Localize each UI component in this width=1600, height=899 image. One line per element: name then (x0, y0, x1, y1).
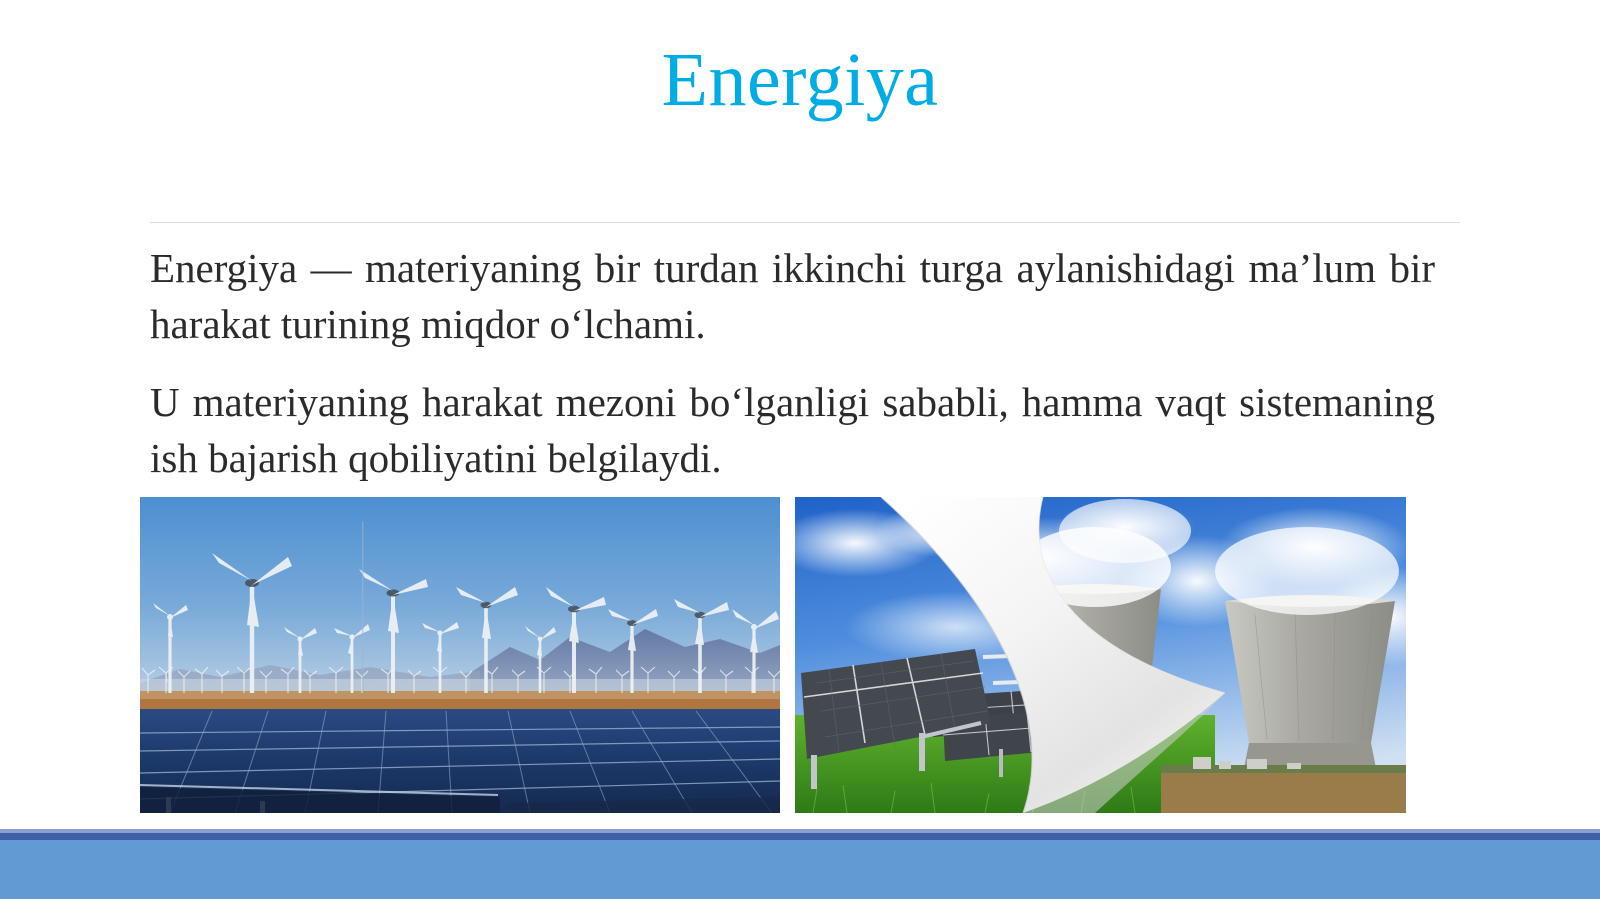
slide-canvas: Energiya Energiya — materiyaning bir tur… (0, 0, 1600, 899)
wind-farm-illustration (140, 497, 780, 813)
body-text-block: Energiya — materiyaning bir turdan ikkin… (150, 240, 1435, 486)
solar-panels-and-nuclear-towers-photo (795, 497, 1406, 813)
paragraph-explanation: U materiyaning harakat mezoni boʻlganlig… (150, 374, 1435, 486)
energy-mix-illustration (795, 497, 1406, 813)
wind-farm-and-solar-panels-photo (140, 497, 780, 813)
title-divider (150, 222, 1460, 223)
footer-bar-light (0, 840, 1600, 899)
picture-row (140, 497, 1406, 813)
page-title: Energiya (0, 36, 1600, 124)
paragraph-definition: Energiya — materiyaning bir turdan ikkin… (150, 240, 1435, 352)
footer-bar-dark (0, 833, 1600, 840)
